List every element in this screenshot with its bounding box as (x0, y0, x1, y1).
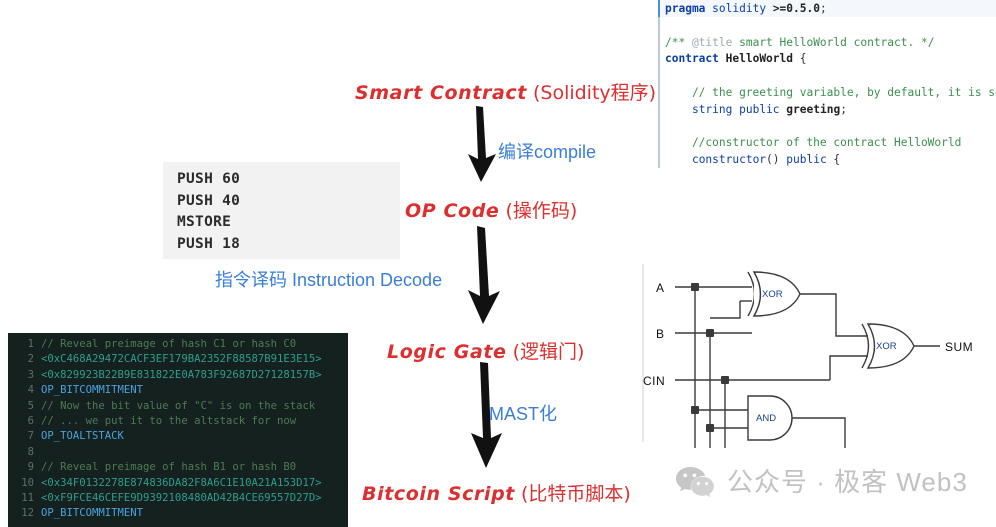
flow-step-logic-gate-cn: (逻辑门) (513, 341, 585, 363)
flow-step-op-code-cn: (操作码) (505, 200, 577, 222)
code-line: pragma solidity >=0.5.0; (665, 1, 996, 18)
script-line: 7OP_TOALTSTACK (8, 429, 322, 444)
gate-label-and: AND (756, 413, 776, 424)
opcode-line: PUSH 40 (177, 191, 240, 213)
script-line-number: 4 (8, 383, 34, 398)
code-line: // the greeting variable, by default, it… (665, 85, 996, 102)
solidity-code-panel: pragma solidity >=0.5.0; /** @title smar… (658, 0, 996, 168)
opcode-box: PUSH 60PUSH 40MSTOREPUSH 18 (163, 162, 400, 259)
gate-input-cin-label: CIN (643, 374, 665, 388)
watermark: 公众号 · 极客 Web3 (676, 462, 968, 499)
code-line (665, 119, 996, 136)
wechat-icon (676, 465, 714, 497)
gate-input-a-label: A (656, 281, 665, 295)
script-line: 9// Reveal preimage of hash B1 or hash B… (8, 460, 322, 475)
gate-label-xor2: XOR (876, 341, 897, 352)
arrow-compile (455, 104, 515, 186)
flow-step-smart-contract-cn: (Solidity程序) (533, 82, 656, 104)
code-line: string public greeting; (665, 102, 996, 119)
arrow-mast (460, 360, 522, 472)
opcode-line: PUSH 60 (177, 169, 240, 191)
script-line: 3<0x829923B22B9E831822E0A783F92687D27128… (8, 368, 322, 383)
flow-step-smart-contract: Smart Contract (Solidity程序) (355, 78, 656, 105)
script-line-number: 3 (8, 368, 34, 383)
opcode-line: MSTORE (177, 212, 240, 234)
flow-step-smart-contract-en: Smart Contract (355, 82, 527, 104)
code-line: contract HelloWorld { (665, 51, 996, 68)
logic-gate-diagram: XOR XOR AND A B CIN SUM (640, 258, 996, 448)
flow-step-op-code: OP Code (操作码) (405, 196, 577, 223)
script-line: 4OP_BITCOMMITMENT (8, 383, 322, 398)
flow-step-bitcoin-script: Bitcoin Script (比特币脚本) (362, 479, 631, 506)
flow-step-op-code-en: OP Code (405, 200, 499, 222)
full-adder-svg: XOR XOR AND (640, 258, 996, 448)
script-line-number: 7 (8, 429, 34, 444)
gate-input-b-label: B (656, 327, 665, 341)
script-line-number: 6 (8, 414, 34, 429)
code-line: /** @title smart HelloWorld contract. */ (665, 35, 996, 52)
transition-label-instruction-decode: 指令译码 Instruction Decode (215, 266, 442, 292)
script-line: 5// Now the bit value of "C" is on the s… (8, 399, 322, 414)
script-line: 2<0xC468A29472CACF3EF179BA2352F88587B91E… (8, 352, 322, 367)
code-line (665, 18, 996, 35)
script-line: 10<0x34F0132278E874836DA82F8A6C1E10A21A1… (8, 476, 322, 491)
gate-output-sum-label: SUM (945, 340, 973, 354)
script-line: 6// ... we put it to the altstack for no… (8, 414, 322, 429)
script-line-number: 9 (8, 460, 34, 475)
watermark-text: 公众号 · 极客 Web3 (727, 462, 968, 499)
script-line: 12OP_BITCOMMITMENT (8, 506, 322, 521)
gate-label-xor1: XOR (762, 289, 783, 300)
script-line-number: 1 (8, 337, 34, 352)
opcode-text: PUSH 60PUSH 40MSTOREPUSH 18 (177, 169, 240, 255)
code-gutter-active-bar (658, 0, 660, 17)
script-line-number: 12 (8, 506, 34, 521)
bitcoin-script-text: 1// Reveal preimage of hash C1 or hash C… (8, 337, 322, 522)
solidity-code-text: pragma solidity >=0.5.0; /** @title smar… (665, 1, 996, 168)
script-line: 8 (8, 445, 322, 460)
code-gutter-bar (658, 0, 660, 168)
bitcoin-script-panel: 1// Reveal preimage of hash C1 or hash C… (8, 333, 348, 527)
script-line-number: 5 (8, 399, 34, 414)
arrow-instruction-decode (455, 224, 521, 328)
script-line-number: 10 (8, 476, 34, 491)
diagram-left-divider (642, 264, 644, 442)
script-line-number: 2 (8, 352, 34, 367)
script-line: 11<0xF9FCE46CEFE9D9392108480AD42B4CE6955… (8, 491, 322, 506)
opcode-line: PUSH 18 (177, 234, 240, 256)
script-line-number: 11 (8, 491, 34, 506)
script-line-number: 8 (8, 445, 34, 460)
code-line (665, 68, 996, 85)
flow-step-bitcoin-script-cn: (比特币脚本) (521, 483, 631, 505)
code-line: constructor() public { (665, 152, 996, 168)
flow-step-bitcoin-script-en: Bitcoin Script (362, 483, 515, 505)
code-line: //constructor of the contract HelloWorld (665, 135, 996, 152)
script-line: 1// Reveal preimage of hash C1 or hash C… (8, 337, 322, 352)
diagram-canvas: pragma solidity >=0.5.0; /** @title smar… (0, 0, 996, 527)
